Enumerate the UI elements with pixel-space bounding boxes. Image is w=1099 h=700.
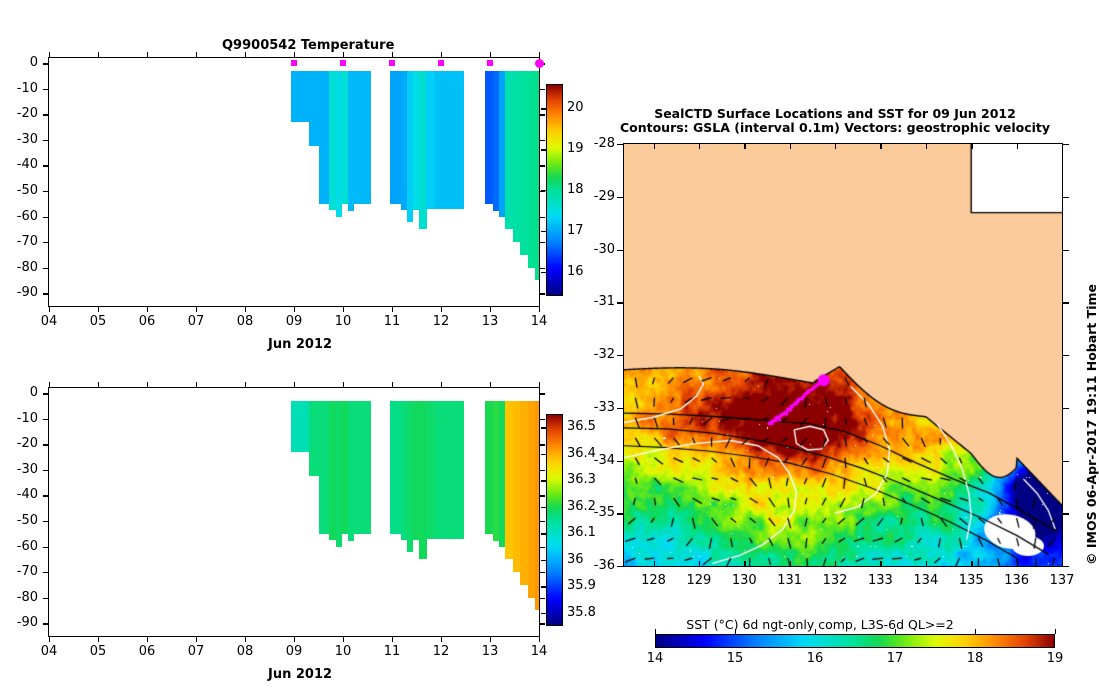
x-tick bbox=[392, 306, 393, 312]
x-tick-label: 14 bbox=[525, 645, 553, 658]
x-tick-label: 12 bbox=[427, 645, 455, 658]
x-tick-label: 04 bbox=[35, 315, 63, 328]
map-x-tick bbox=[699, 143, 700, 149]
map-y-tick bbox=[1063, 513, 1069, 514]
y-tick bbox=[539, 165, 545, 166]
map-x-tick-label: 132 bbox=[819, 574, 851, 587]
y-tick bbox=[539, 572, 545, 573]
x-tick-label: 05 bbox=[84, 315, 112, 328]
y-tick-label: -30 bbox=[0, 133, 38, 146]
sst-colorbar-tick bbox=[735, 629, 736, 634]
map-x-tick bbox=[744, 561, 745, 567]
colorbar-tick bbox=[541, 272, 546, 273]
map-y-tick-label: -34 bbox=[581, 454, 615, 467]
map-y-tick bbox=[1063, 461, 1069, 462]
surface-location-marker bbox=[487, 60, 493, 66]
y-tick-label: -40 bbox=[0, 158, 38, 171]
map-x-tick bbox=[654, 143, 655, 149]
x-tick bbox=[245, 306, 246, 312]
y-tick-label: -20 bbox=[0, 437, 38, 450]
map-y-tick bbox=[617, 513, 623, 514]
colorbar-tick bbox=[541, 533, 546, 534]
map-x-tick bbox=[699, 561, 700, 567]
map-x-tick-label: 136 bbox=[1001, 574, 1033, 587]
x-tick-label: 05 bbox=[84, 645, 112, 658]
y-tick-label: -40 bbox=[0, 488, 38, 501]
x-tick-label: 13 bbox=[476, 315, 504, 328]
map-x-tick-label: 131 bbox=[774, 574, 806, 587]
colorbar-tick-label: 36.3 bbox=[567, 473, 596, 486]
map-x-tick bbox=[926, 561, 927, 567]
sst-map-panel: SealCTD Surface Locations and SST for 09… bbox=[600, 0, 1099, 700]
profile-column bbox=[435, 401, 464, 539]
map-x-tick bbox=[744, 143, 745, 149]
y-tick-label: -10 bbox=[0, 412, 38, 425]
y-tick-label: -80 bbox=[0, 261, 38, 274]
colorbar-tick bbox=[541, 454, 546, 455]
colorbar-tick bbox=[541, 560, 546, 561]
x-tick bbox=[98, 306, 99, 312]
sst-colorbar-tick bbox=[975, 629, 976, 634]
map-y-tick-label: -30 bbox=[581, 243, 615, 256]
map-x-tick bbox=[971, 143, 972, 149]
map-y-tick bbox=[617, 144, 623, 145]
y-tick bbox=[539, 495, 545, 496]
map-x-tick bbox=[835, 143, 836, 149]
x-tick bbox=[392, 636, 393, 642]
colorbar-tick-label: 35.8 bbox=[567, 606, 596, 619]
x-tick-label: 08 bbox=[231, 315, 259, 328]
sst-colorbar-tick bbox=[815, 629, 816, 634]
profile-column bbox=[291, 401, 310, 452]
x-tick bbox=[343, 636, 344, 642]
profile-column bbox=[309, 401, 320, 476]
sst-colorbar-tick-label: 15 bbox=[719, 652, 751, 665]
y-tick-label: -50 bbox=[0, 184, 38, 197]
x-tick bbox=[294, 306, 295, 312]
y-tick-label: -70 bbox=[0, 565, 38, 578]
map-x-tick-label: 137 bbox=[1046, 574, 1078, 587]
colorbar-tick bbox=[541, 108, 546, 109]
y-tick-label: -70 bbox=[0, 235, 38, 248]
salinity-profile-panel: 0-10-20-30-40-50-60-70-80-90 04050607080… bbox=[0, 330, 600, 700]
map-y-tick bbox=[1063, 302, 1069, 303]
y-tick bbox=[539, 623, 545, 624]
y-tick bbox=[539, 444, 545, 445]
surface-location-marker bbox=[535, 59, 544, 68]
colorbar-tick-label: 16 bbox=[567, 265, 584, 278]
x-tick-label: 10 bbox=[329, 645, 357, 658]
map-plot-frame bbox=[623, 143, 1063, 567]
map-x-tick bbox=[971, 561, 972, 567]
map-y-tick-label: -32 bbox=[581, 348, 615, 361]
map-y-tick-label: -36 bbox=[581, 559, 615, 572]
map-y-tick bbox=[1063, 250, 1069, 251]
profile-column bbox=[535, 401, 539, 611]
map-x-tick-label: 135 bbox=[955, 574, 987, 587]
sst-colorbar-tick-label: 17 bbox=[879, 652, 911, 665]
x-tick bbox=[441, 636, 442, 642]
y-tick bbox=[539, 419, 545, 420]
y-tick bbox=[539, 293, 545, 294]
colorbar-tick-label: 36.1 bbox=[567, 526, 596, 539]
y-tick-label: 0 bbox=[0, 56, 38, 69]
x-tick-label: 08 bbox=[231, 645, 259, 658]
colorbar-tick bbox=[541, 231, 546, 232]
y-tick-label: -20 bbox=[0, 107, 38, 120]
y-tick bbox=[539, 547, 545, 548]
map-y-tick bbox=[617, 302, 623, 303]
map-y-tick-label: -29 bbox=[581, 190, 615, 203]
map-x-tick-label: 128 bbox=[638, 574, 670, 587]
sst-raster bbox=[624, 144, 1062, 566]
map-x-tick-label: 133 bbox=[864, 574, 896, 587]
surface-location-marker bbox=[340, 60, 346, 66]
y-tick-label: -90 bbox=[0, 616, 38, 629]
profile-column bbox=[435, 71, 464, 209]
temperature-profile-data bbox=[49, 58, 539, 306]
map-title-line1: SealCTD Surface Locations and SST for 09… bbox=[600, 106, 1070, 121]
x-tick-label: 07 bbox=[182, 645, 210, 658]
y-tick bbox=[539, 114, 545, 115]
x-tick bbox=[147, 636, 148, 642]
map-x-tick-label: 134 bbox=[910, 574, 942, 587]
x-tick bbox=[49, 306, 50, 312]
map-y-tick bbox=[1063, 144, 1069, 145]
colorbar-tick bbox=[541, 480, 546, 481]
y-tick bbox=[539, 393, 545, 394]
salinity-profile-data bbox=[49, 388, 539, 636]
surface-location-marker bbox=[291, 60, 297, 66]
y-tick bbox=[539, 268, 545, 269]
y-tick-label: -50 bbox=[0, 514, 38, 527]
x-tick bbox=[490, 636, 491, 642]
profile-column bbox=[390, 71, 402, 204]
surface-location-marker bbox=[438, 60, 444, 66]
profile-column bbox=[354, 71, 371, 204]
sst-colorbar-tick-label: 16 bbox=[799, 652, 831, 665]
x-tick bbox=[196, 636, 197, 642]
x-tick bbox=[441, 306, 442, 312]
map-x-tick bbox=[1017, 561, 1018, 567]
x-tick bbox=[98, 636, 99, 642]
x-tick-label: 10 bbox=[329, 315, 357, 328]
y-tick-label: -80 bbox=[0, 591, 38, 604]
colorbar-tick-label: 35.9 bbox=[567, 579, 596, 592]
imos-credit: © IMOS 06-Apr-2017 19:11 Hobart Time bbox=[1084, 284, 1099, 565]
sst-colorbar-tick bbox=[655, 629, 656, 634]
x-tick-label: 11 bbox=[378, 645, 406, 658]
y-tick-label: 0 bbox=[0, 386, 38, 399]
y-tick bbox=[539, 470, 545, 471]
x-tick bbox=[147, 306, 148, 312]
sst-colorbar-label: SST (°C) 6d ngt-only comp, L3S-6d QL>=2 bbox=[600, 617, 1040, 632]
x-tick-label: 09 bbox=[280, 645, 308, 658]
map-x-tick bbox=[880, 561, 881, 567]
map-y-tick bbox=[1063, 355, 1069, 356]
map-y-tick-label: -33 bbox=[581, 401, 615, 414]
y-tick bbox=[539, 521, 545, 522]
map-x-tick bbox=[926, 143, 927, 149]
map-y-tick bbox=[1063, 197, 1069, 198]
profile-column bbox=[291, 71, 310, 122]
colorbar-tick bbox=[541, 190, 546, 191]
temperature-profile-panel: Q9900542 Temperature 0-10-20-30-40-50-60… bbox=[0, 0, 600, 360]
y-tick bbox=[539, 598, 545, 599]
map-x-tick bbox=[654, 561, 655, 567]
colorbar-tick bbox=[541, 507, 546, 508]
y-tick bbox=[539, 242, 545, 243]
sst-colorbar-tick bbox=[1055, 629, 1056, 634]
map-y-tick-label: -31 bbox=[581, 295, 615, 308]
x-tick-label: 11 bbox=[378, 315, 406, 328]
profile-column bbox=[535, 71, 539, 281]
x-tick-label: 06 bbox=[133, 645, 161, 658]
profile-column bbox=[390, 401, 402, 534]
x-tick-label: 06 bbox=[133, 315, 161, 328]
profile-column bbox=[309, 71, 320, 146]
profile-column bbox=[354, 401, 371, 534]
y-tick bbox=[539, 89, 545, 90]
y-tick-label: -60 bbox=[0, 210, 38, 223]
x-tick bbox=[490, 306, 491, 312]
salinity-colorbar bbox=[546, 414, 563, 626]
sst-colorbar-tick bbox=[895, 629, 896, 634]
x-tick bbox=[245, 636, 246, 642]
x-tick bbox=[49, 636, 50, 642]
map-y-tick bbox=[1063, 408, 1069, 409]
x-tick-label: 07 bbox=[182, 315, 210, 328]
sst-colorbar-tick-label: 19 bbox=[1039, 652, 1071, 665]
colorbar-tick-label: 20 bbox=[567, 101, 584, 114]
x-tick bbox=[294, 636, 295, 642]
x-tick-label: 04 bbox=[35, 645, 63, 658]
x-tick bbox=[539, 52, 540, 58]
x-tick bbox=[539, 636, 540, 642]
x-tick bbox=[196, 306, 197, 312]
x-tick-label: 09 bbox=[280, 315, 308, 328]
x-tick bbox=[539, 382, 540, 388]
map-x-tick-label: 129 bbox=[683, 574, 715, 587]
colorbar-tick bbox=[541, 613, 546, 614]
surface-location-marker bbox=[389, 60, 395, 66]
temperature-colorbar bbox=[546, 84, 563, 296]
sst-colorbar-tick-label: 18 bbox=[959, 652, 991, 665]
y-tick bbox=[539, 217, 545, 218]
map-y-tick bbox=[617, 250, 623, 251]
map-title-line2: Contours: GSLA (interval 0.1m) Vectors: … bbox=[600, 120, 1070, 135]
y-tick-label: -30 bbox=[0, 463, 38, 476]
map-x-tick bbox=[790, 561, 791, 567]
map-y-tick bbox=[617, 408, 623, 409]
y-tick-label: -10 bbox=[0, 82, 38, 95]
y-tick-label: -60 bbox=[0, 540, 38, 553]
y-tick bbox=[539, 140, 545, 141]
map-y-tick bbox=[617, 355, 623, 356]
colorbar-tick bbox=[541, 149, 546, 150]
x-tick bbox=[539, 306, 540, 312]
map-y-tick-label: -35 bbox=[581, 506, 615, 519]
map-x-tick-label: 130 bbox=[728, 574, 760, 587]
map-x-tick bbox=[790, 143, 791, 149]
map-y-tick bbox=[1063, 566, 1069, 567]
x-tick-label: 13 bbox=[476, 645, 504, 658]
map-y-tick bbox=[617, 461, 623, 462]
map-x-tick bbox=[880, 143, 881, 149]
colorbar-tick bbox=[541, 427, 546, 428]
map-y-tick bbox=[617, 197, 623, 198]
y-tick-label: -90 bbox=[0, 286, 38, 299]
map-x-tick bbox=[835, 561, 836, 567]
map-x-tick bbox=[1017, 143, 1018, 149]
sst-colorbar-tick-label: 14 bbox=[639, 652, 671, 665]
x-tick-label: 12 bbox=[427, 315, 455, 328]
x-tick-label: 14 bbox=[525, 315, 553, 328]
map-y-tick-label: -28 bbox=[581, 137, 615, 150]
map-y-tick bbox=[617, 566, 623, 567]
colorbar-tick-label: 36.5 bbox=[567, 420, 596, 433]
salinity-xaxis-label: Jun 2012 bbox=[268, 667, 332, 682]
sst-colorbar bbox=[655, 634, 1055, 648]
colorbar-tick bbox=[541, 586, 546, 587]
x-tick bbox=[343, 306, 344, 312]
colorbar-tick-label: 17 bbox=[567, 224, 584, 237]
